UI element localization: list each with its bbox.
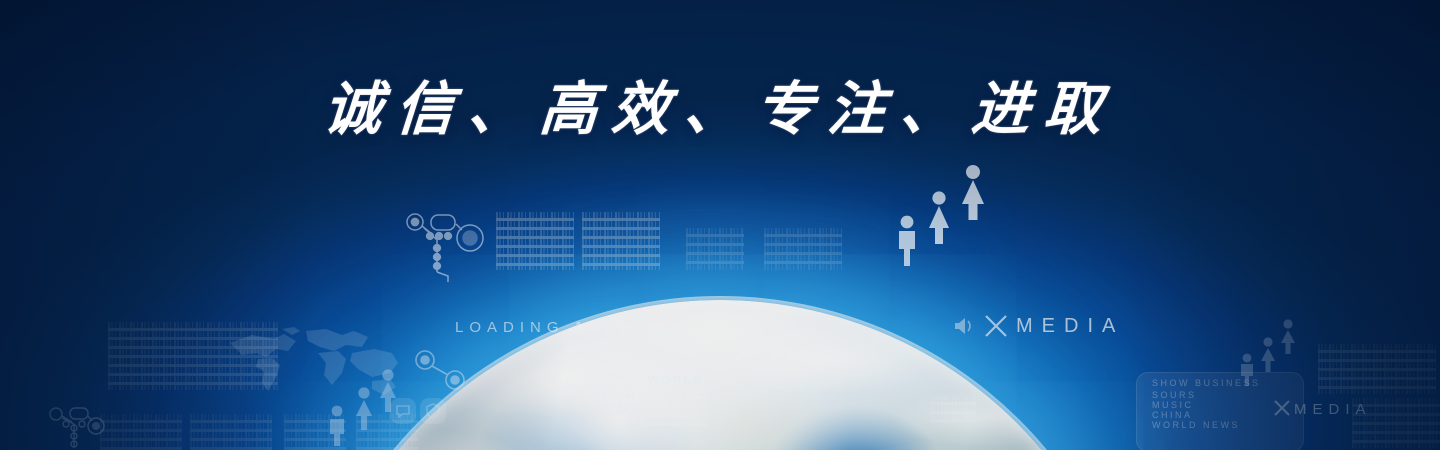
page-title: 诚信、高效、专注、进取 — [0, 62, 1440, 146]
hero-banner: LOADING 100% MEDIA WORLD S — [0, 0, 1440, 450]
